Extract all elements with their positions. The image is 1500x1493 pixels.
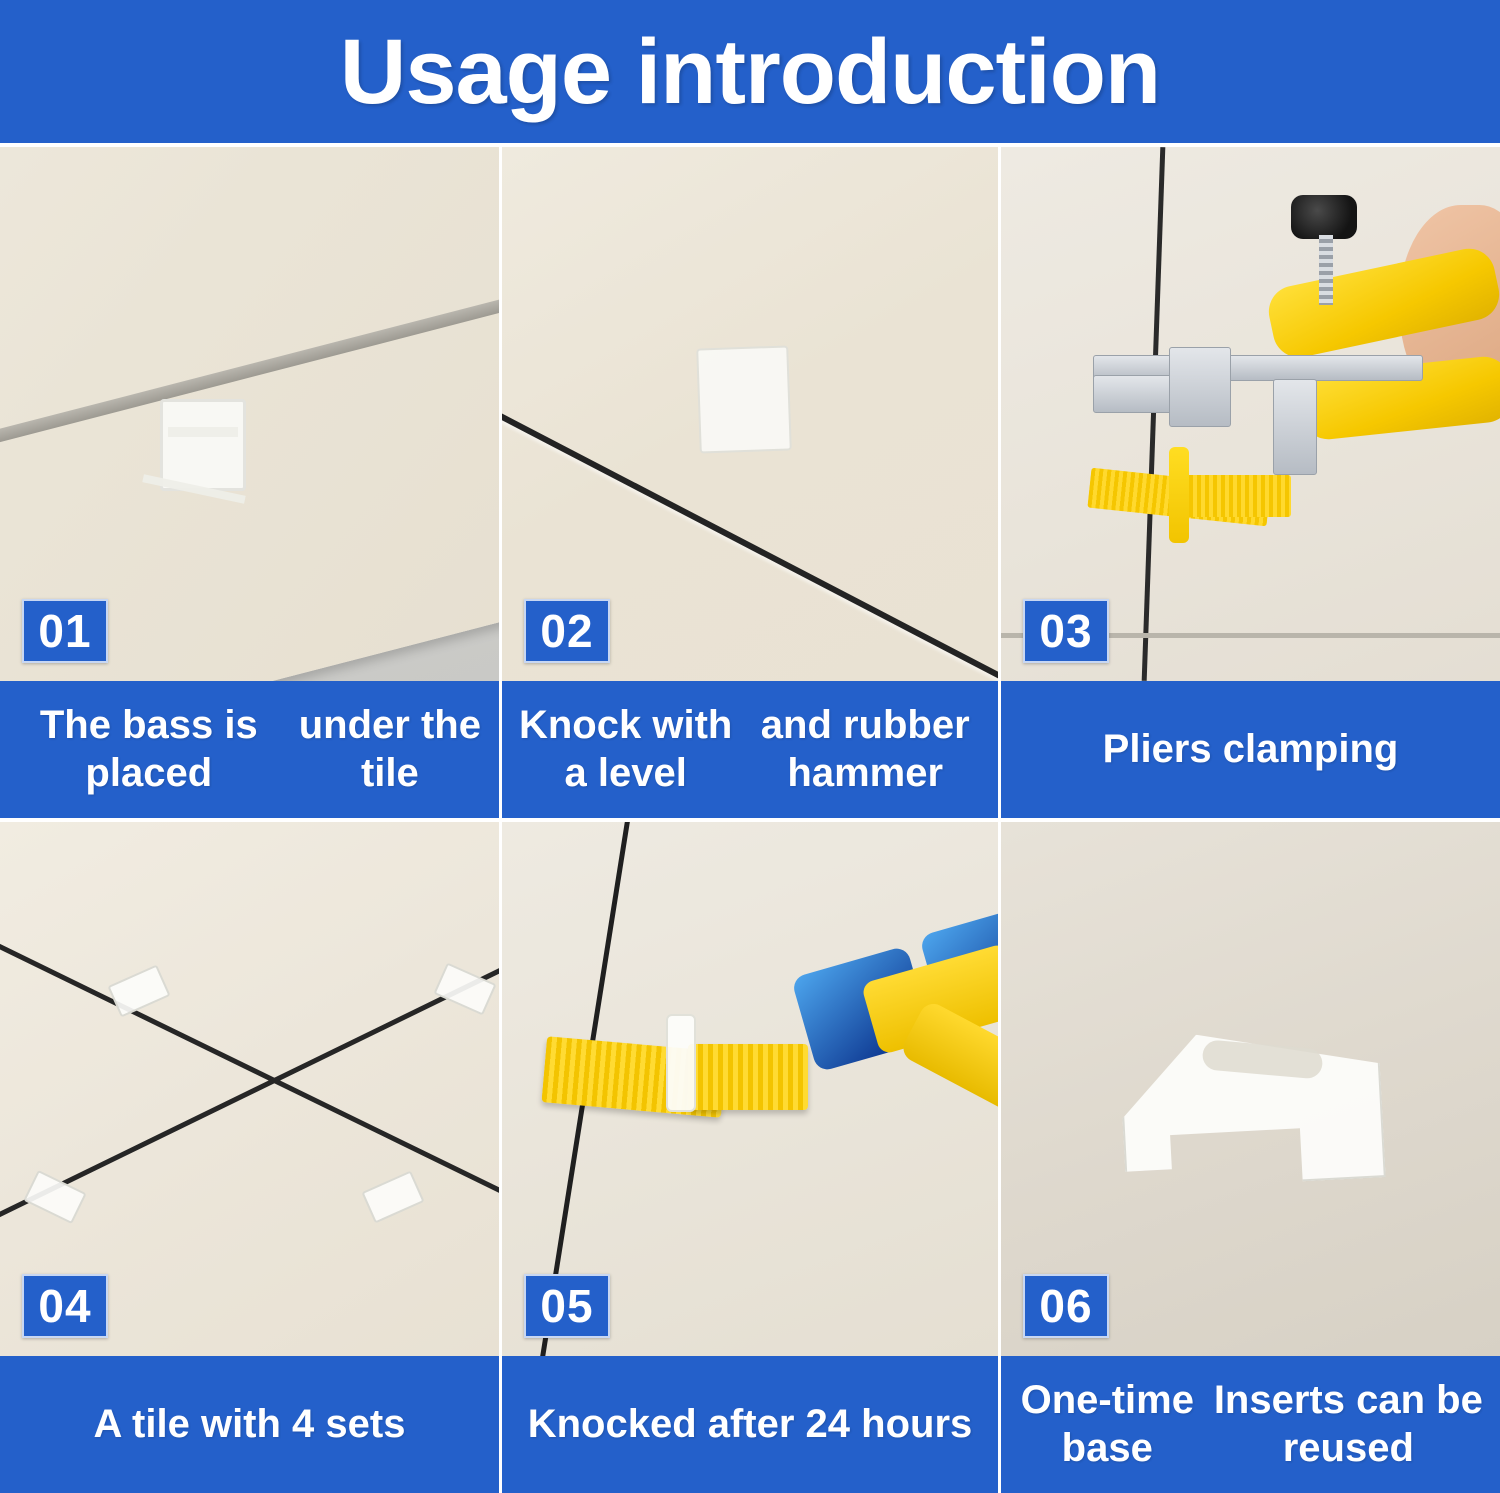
threaded-screw xyxy=(1319,235,1333,305)
caption-line: The bass is placed xyxy=(14,702,284,796)
clip-body xyxy=(1116,987,1386,1190)
step-badge-06: 06 xyxy=(1023,1274,1109,1338)
caption-line: Pliers clamping xyxy=(1103,726,1399,773)
step-card-02[interactable]: 02 Knock with a level and rubber hammer xyxy=(499,143,998,818)
step-photo-04: 04 xyxy=(0,822,499,1356)
leveling-clip xyxy=(160,399,246,491)
step-card-06[interactable]: 06 One-time base Inserts can be reused xyxy=(998,818,1500,1493)
step-caption-06: One-time base Inserts can be reused xyxy=(1001,1356,1500,1493)
step-photo-03: 03 xyxy=(1001,147,1500,681)
clip-body xyxy=(160,399,246,491)
step-photo-06: 06 xyxy=(1001,822,1500,1356)
page-header: Usage introduction xyxy=(0,0,1500,143)
caption-line: Inserts can be reused xyxy=(1211,1377,1486,1471)
caption-line: and rubber hammer xyxy=(746,702,984,796)
step-caption-05: Knocked after 24 hours xyxy=(502,1356,998,1493)
step-badge-03: 03 xyxy=(1023,599,1109,663)
steps-grid: 01 The bass is placed under the tile 02 … xyxy=(0,143,1500,1493)
pliers-bracket xyxy=(1169,347,1231,427)
leveling-clip xyxy=(696,345,792,453)
step-photo-02: 02 xyxy=(502,147,998,681)
step-badge-04: 04 xyxy=(22,1274,108,1338)
page-title: Usage introduction xyxy=(340,26,1160,118)
step-caption-03: Pliers clamping xyxy=(1001,681,1500,818)
infographic-page: Usage introduction 01 The bass is placed… xyxy=(0,0,1500,1493)
adjustment-knob[interactable] xyxy=(1291,195,1357,239)
step-card-04[interactable]: 04 A tile with 4 sets xyxy=(0,818,499,1493)
step-caption-02: Knock with a level and rubber hammer xyxy=(502,681,998,818)
step-photo-01: 01 xyxy=(0,147,499,681)
caption-line: Knocked after 24 xyxy=(528,1401,850,1448)
clip-stem xyxy=(1169,447,1189,543)
step-card-05[interactable]: 05 Knocked after 24 hours xyxy=(499,818,998,1493)
step-badge-05: 05 xyxy=(524,1274,610,1338)
step-caption-01: The bass is placed under the tile xyxy=(0,681,499,818)
yellow-wedge-right xyxy=(1181,475,1291,517)
caption-line: A tile with 4 sets xyxy=(94,1401,406,1448)
one-time-clip-base xyxy=(1116,987,1386,1190)
caption-line: hours xyxy=(861,1401,972,1448)
pliers-pusher xyxy=(1273,379,1317,475)
caption-line: One-time base xyxy=(1015,1377,1200,1471)
clip-crossbar xyxy=(168,427,238,437)
step-badge-01: 01 xyxy=(22,599,108,663)
step-badge-02: 02 xyxy=(524,599,610,663)
step-card-03[interactable]: 03 Pliers clamping xyxy=(998,143,1500,818)
caption-line: Knock with a level xyxy=(516,702,735,796)
step-photo-05: 05 xyxy=(502,822,998,1356)
step-caption-04: A tile with 4 sets xyxy=(0,1356,499,1493)
yellow-wedge-right xyxy=(688,1044,808,1110)
leveling-clip-strap xyxy=(666,1014,696,1112)
step-card-01[interactable]: 01 The bass is placed under the tile xyxy=(0,143,499,818)
caption-line: under the tile xyxy=(295,702,485,796)
